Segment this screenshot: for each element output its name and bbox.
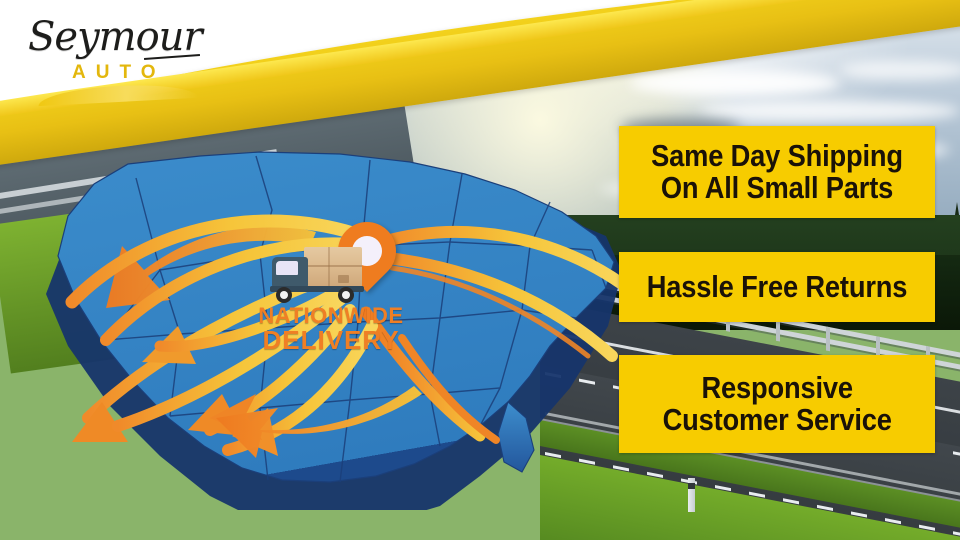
brand-name: Seymour	[28, 14, 202, 60]
truck-window	[276, 261, 298, 275]
truck-wheel	[338, 287, 354, 303]
nationwide-delivery-line1: NATIONWIDE	[256, 305, 406, 327]
brand-subtitle: AUTO	[72, 62, 165, 84]
truck-box-seam	[328, 247, 330, 287]
cloud	[840, 60, 960, 80]
seymour-auto-logo[interactable]: Seymour AUTO	[16, 14, 246, 100]
callout-3-line-2: Customer Service	[662, 404, 891, 436]
callout-hassle-free-returns[interactable]: Hassle Free Returns	[619, 252, 935, 322]
promo-banner: Seymour AUTO	[0, 0, 960, 540]
callout-1-line-1: Same Day Shipping	[651, 140, 903, 172]
nationwide-delivery-line2: DELIVERY	[256, 327, 406, 354]
truck-wheel	[276, 287, 292, 303]
delineator-post	[688, 478, 695, 512]
delivery-truck-icon	[266, 245, 366, 307]
callout-responsive-customer-service[interactable]: Responsive Customer Service	[619, 355, 935, 453]
callout-2-line-1: Hassle Free Returns	[647, 271, 907, 303]
truck-cargo-box	[304, 247, 362, 287]
truck-box-label	[338, 275, 349, 283]
cloud	[700, 100, 960, 122]
truck-box-seam	[304, 265, 362, 267]
callout-1-line-2: On All Small Parts	[651, 172, 903, 204]
cloud	[630, 70, 840, 96]
callout-3-line-1: Responsive	[662, 372, 891, 404]
nationwide-delivery-label: NATIONWIDE DELIVERY	[256, 305, 406, 354]
callout-same-day-shipping[interactable]: Same Day Shipping On All Small Parts	[619, 126, 935, 218]
